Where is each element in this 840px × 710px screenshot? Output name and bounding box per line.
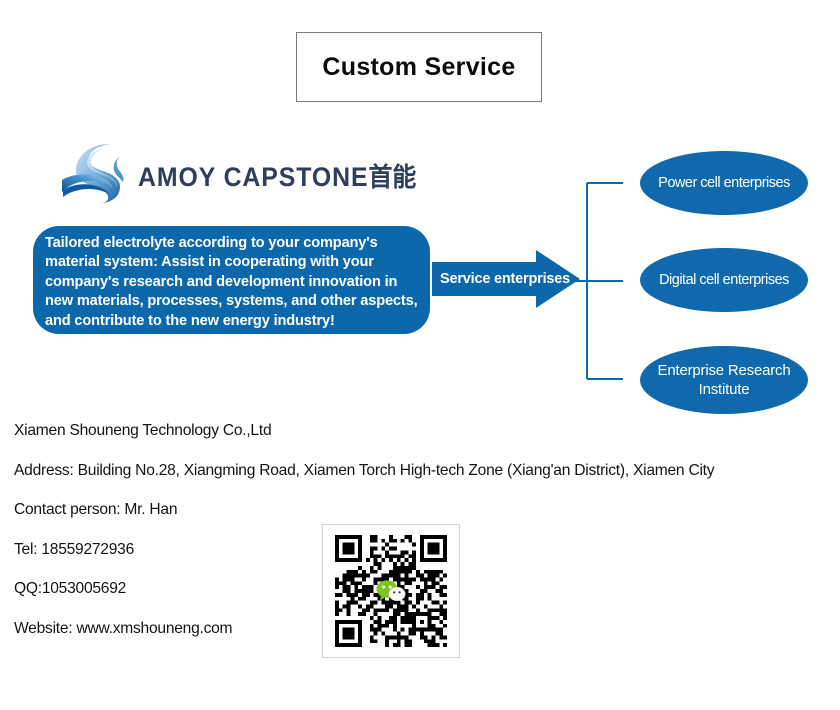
page-title: Custom Service	[322, 53, 515, 82]
company-logo: AMOY CAPSTONE首能	[60, 140, 390, 202]
logo-wordmark-chinese: 首能	[369, 162, 417, 192]
service-enterprises-arrow: Service enterprises	[432, 250, 580, 308]
logo-wordmark: AMOY CAPSTONE首能	[138, 157, 416, 194]
arrow-label: Service enterprises	[440, 271, 570, 287]
service-description-text: Tailored electrolyte according to your c…	[45, 234, 418, 331]
page-title-box: Custom Service	[296, 32, 542, 102]
branch-label-line1: Enterprise Research	[658, 362, 791, 379]
wechat-logo-icon	[376, 579, 406, 603]
branch-enterprise-research-institute: Enterprise ResearchInstitute	[640, 346, 808, 414]
qr-code-panel	[322, 524, 460, 658]
branch-label-line2: Institute	[699, 381, 750, 398]
branch-digital-cell-enterprises: Digital cell enterprises	[640, 248, 808, 312]
contact-person: Contact person: Mr. Han	[14, 501, 834, 519]
branch-label: Enterprise ResearchInstitute	[648, 361, 801, 399]
service-description-bubble: Tailored electrolyte according to your c…	[33, 226, 430, 334]
logo-wordmark-latin: AMOY CAPSTONE	[138, 162, 369, 192]
branch-label: Digital cell enterprises	[649, 271, 799, 290]
branch-connector-bracket	[575, 168, 647, 393]
branch-label: Power cell enterprises	[648, 174, 800, 193]
contact-address: Address: Building No.28, Xiangming Road,…	[14, 462, 834, 480]
wechat-qr-code	[335, 535, 447, 647]
branch-power-cell-enterprises: Power cell enterprises	[640, 151, 808, 215]
contact-company-name: Xiamen Shouneng Technology Co.,Ltd	[14, 422, 834, 440]
swirl-logo-icon	[60, 142, 134, 204]
